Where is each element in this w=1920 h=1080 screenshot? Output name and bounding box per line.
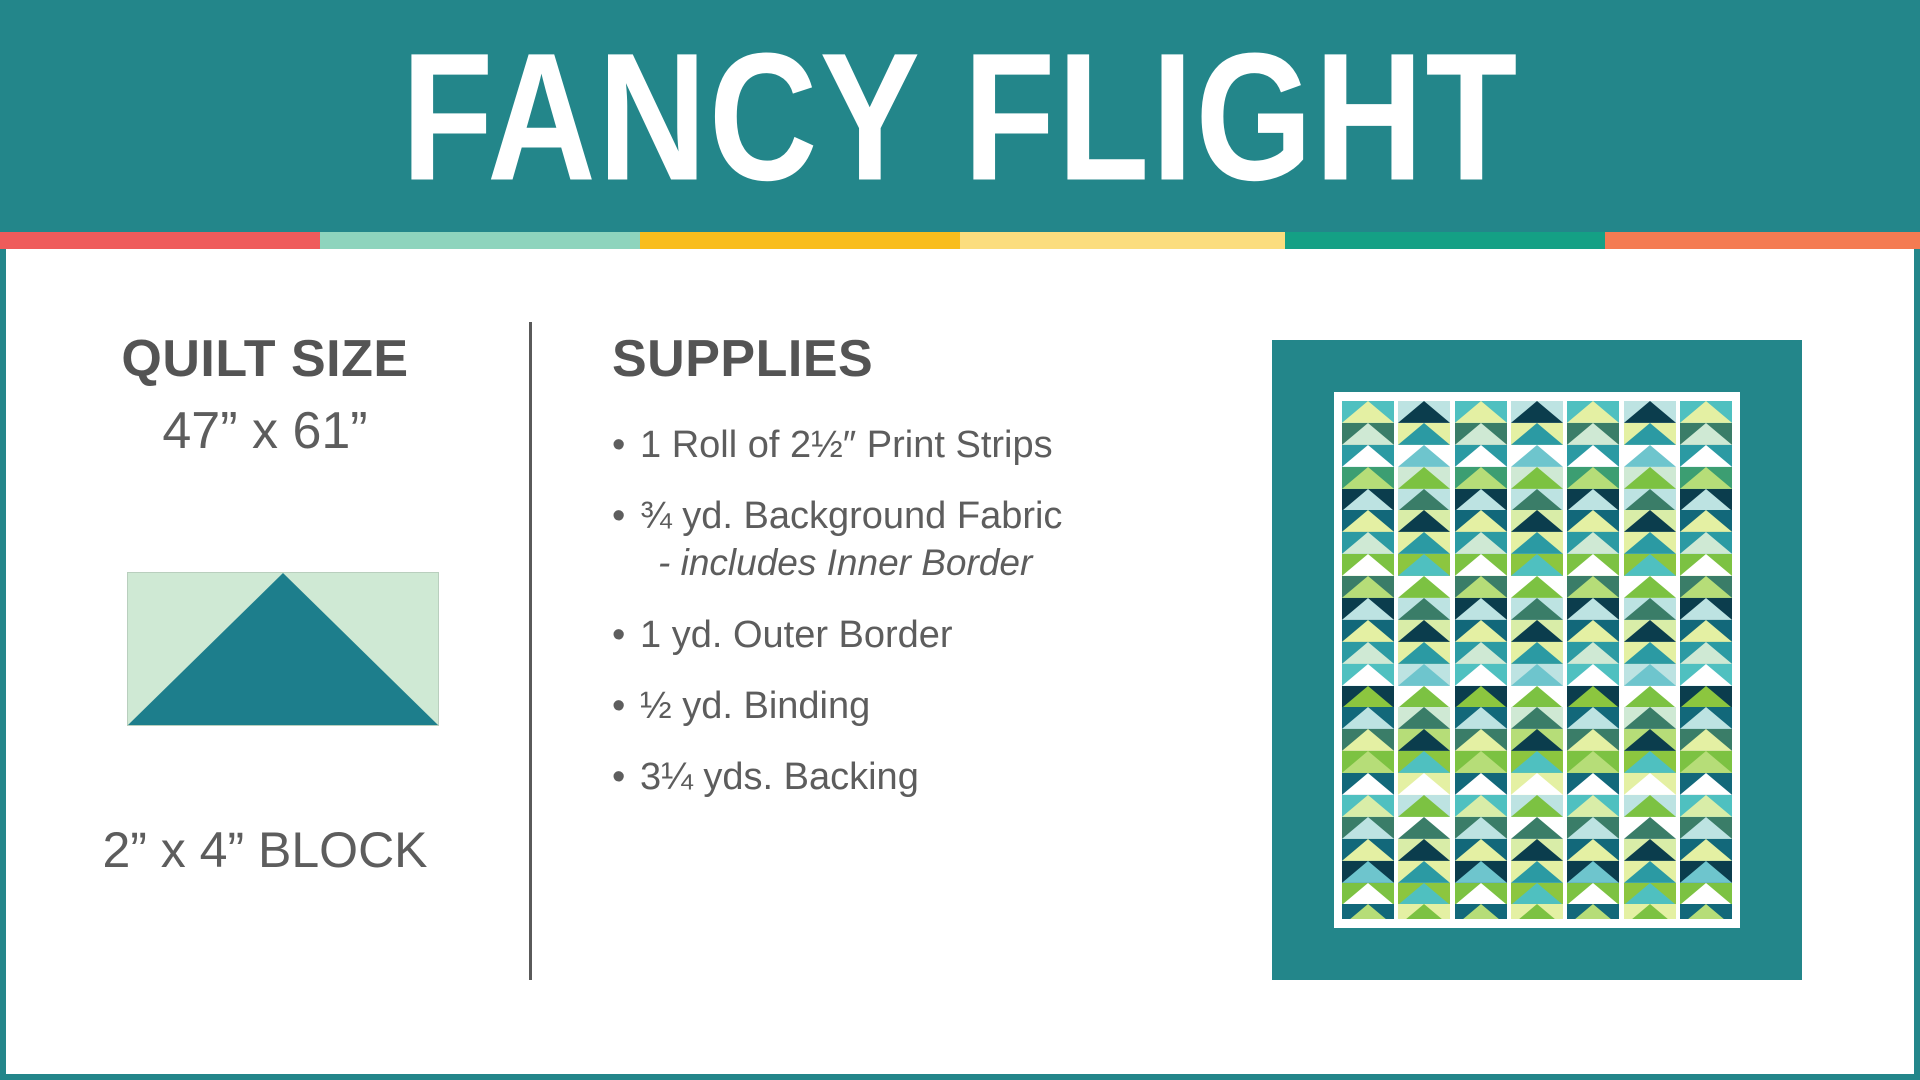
goose-block [1567, 401, 1619, 423]
goose-block [1567, 445, 1619, 467]
goose-block [1398, 489, 1450, 511]
goose-block [1567, 532, 1619, 554]
goose-block [1398, 817, 1450, 839]
goose-block [1342, 467, 1394, 489]
goose-block [1680, 904, 1732, 919]
goose-block [1511, 467, 1563, 489]
goose-block [1680, 620, 1732, 642]
goose-block [1624, 576, 1676, 598]
goose-block [1511, 773, 1563, 795]
goose-block [1680, 598, 1732, 620]
goose-block [1398, 445, 1450, 467]
section-divider [529, 322, 532, 980]
goose-block [1567, 861, 1619, 883]
goose-block [1567, 554, 1619, 576]
goose-block [1398, 532, 1450, 554]
goose-block [1342, 664, 1394, 686]
goose-block [1398, 795, 1450, 817]
goose-block [1455, 489, 1507, 511]
supplies-heading: SUPPLIES [612, 330, 1172, 388]
goose-block [1680, 751, 1732, 773]
goose-block [1680, 642, 1732, 664]
supplies-item: •3¼ yds. Backing [612, 754, 1172, 800]
goose-block [1342, 445, 1394, 467]
goose-block [1511, 686, 1563, 708]
goose-block [1511, 598, 1563, 620]
stripe-segment-golden-yellow [640, 232, 960, 249]
quilt-column-1 [1342, 401, 1394, 919]
bullet-icon: • [612, 754, 625, 800]
quilt-block-field [1342, 401, 1732, 919]
goose-block [1680, 423, 1732, 445]
quilt-illustration [1272, 340, 1802, 980]
goose-block [1624, 664, 1676, 686]
goose-block [1342, 686, 1394, 708]
quilt-column-5 [1567, 401, 1619, 919]
goose-block [1624, 467, 1676, 489]
goose-block [1511, 445, 1563, 467]
goose-block [1567, 773, 1619, 795]
goose-block [1680, 401, 1732, 423]
goose-block [1511, 904, 1563, 919]
goose-block [1680, 817, 1732, 839]
goose-block [1511, 839, 1563, 861]
goose-block [1455, 510, 1507, 532]
goose-block [1455, 773, 1507, 795]
goose-block [1567, 883, 1619, 905]
bullet-icon: • [612, 493, 625, 539]
stripe-segment-green-teal [1285, 232, 1605, 249]
supplies-item-text: 1 Roll of 2½″ Print Strips [640, 424, 1053, 466]
goose-block [1624, 839, 1676, 861]
goose-block [1624, 598, 1676, 620]
goose-block [1567, 598, 1619, 620]
goose-block [1455, 861, 1507, 883]
goose-block [1511, 489, 1563, 511]
goose-block [1624, 817, 1676, 839]
goose-block [1567, 904, 1619, 919]
goose-block [1342, 883, 1394, 905]
goose-block [1342, 773, 1394, 795]
goose-block [1567, 795, 1619, 817]
goose-block [1567, 489, 1619, 511]
goose-block [1680, 861, 1732, 883]
goose-block [1680, 532, 1732, 554]
goose-block [1624, 620, 1676, 642]
goose-block [1567, 751, 1619, 773]
goose-block [1624, 795, 1676, 817]
goose-block [1567, 642, 1619, 664]
supplies-item: •1 yd. Outer Border [612, 612, 1172, 658]
block-diagram [127, 572, 439, 726]
goose-block [1342, 729, 1394, 751]
goose-block [1511, 576, 1563, 598]
quilt-column-4 [1511, 401, 1563, 919]
goose-block [1455, 686, 1507, 708]
goose-block [1511, 817, 1563, 839]
goose-block [1624, 686, 1676, 708]
goose-block [1398, 751, 1450, 773]
goose-block [1398, 642, 1450, 664]
goose-block [1680, 467, 1732, 489]
goose-block [1342, 904, 1394, 919]
goose-block [1455, 707, 1507, 729]
goose-block [1511, 510, 1563, 532]
goose-block [1511, 795, 1563, 817]
goose-block [1398, 904, 1450, 919]
page-title: FANCY FLIGHT [401, 27, 1519, 209]
goose-block [1455, 467, 1507, 489]
goose-block [1511, 861, 1563, 883]
goose-block [1511, 729, 1563, 751]
goose-block [1511, 751, 1563, 773]
goose-block [1398, 576, 1450, 598]
goose-block [1398, 707, 1450, 729]
goose-block [1398, 401, 1450, 423]
goose-block [1398, 729, 1450, 751]
goose-block [1455, 642, 1507, 664]
goose-block [1398, 861, 1450, 883]
supplies-item-text: ½ yd. Binding [640, 685, 870, 727]
goose-block [1455, 532, 1507, 554]
goose-block [1567, 729, 1619, 751]
goose-block [1511, 401, 1563, 423]
goose-block [1455, 729, 1507, 751]
stripe-segment-coral-red [0, 232, 320, 249]
goose-block [1342, 510, 1394, 532]
goose-block [1624, 423, 1676, 445]
goose-block [1567, 686, 1619, 708]
goose-block [1567, 620, 1619, 642]
goose-block [1455, 751, 1507, 773]
goose-block [1680, 795, 1732, 817]
goose-block [1455, 883, 1507, 905]
goose-block [1511, 707, 1563, 729]
goose-block [1342, 751, 1394, 773]
quilt-size-heading: QUILT SIZE [30, 330, 500, 388]
supplies-item-text: ¾ yd. Background Fabric [640, 495, 1062, 537]
goose-block [1455, 576, 1507, 598]
goose-block [1455, 839, 1507, 861]
goose-block [1624, 773, 1676, 795]
quilt-column-6 [1624, 401, 1676, 919]
supplies-section: SUPPLIES •1 Roll of 2½″ Print Strips•¾ y… [612, 330, 1172, 825]
goose-block [1680, 510, 1732, 532]
goose-block [1342, 401, 1394, 423]
stripe-segment-orange [1605, 232, 1920, 249]
bullet-icon: • [612, 612, 625, 658]
color-stripe [0, 232, 1920, 249]
goose-block [1398, 510, 1450, 532]
goose-block [1455, 423, 1507, 445]
goose-block [1680, 729, 1732, 751]
goose-block [1567, 839, 1619, 861]
header-banner: FANCY FLIGHT [0, 0, 1920, 232]
supplies-item-text: 3¼ yds. Backing [640, 756, 919, 798]
goose-block [1398, 773, 1450, 795]
quilt-column-3 [1455, 401, 1507, 919]
goose-block [1398, 467, 1450, 489]
goose-block [1342, 489, 1394, 511]
goose-block [1398, 598, 1450, 620]
goose-block [1398, 686, 1450, 708]
goose-block [1342, 532, 1394, 554]
goose-block [1680, 445, 1732, 467]
goose-block [1624, 861, 1676, 883]
goose-block [1398, 620, 1450, 642]
supplies-item: •¾ yd. Background Fabric- includes Inner… [612, 493, 1172, 587]
goose-block [1342, 707, 1394, 729]
goose-block [1398, 554, 1450, 576]
stripe-segment-mint [320, 232, 640, 249]
goose-block [1511, 532, 1563, 554]
goose-block [1455, 620, 1507, 642]
goose-block [1342, 554, 1394, 576]
quilt-size-value: 47” x 61” [30, 396, 500, 466]
goose-block [1511, 423, 1563, 445]
quilt-column-7 [1680, 401, 1732, 919]
goose-block [1455, 795, 1507, 817]
goose-block [1342, 423, 1394, 445]
goose-block [1342, 817, 1394, 839]
goose-block [1624, 707, 1676, 729]
goose-block [1680, 489, 1732, 511]
goose-block [1398, 423, 1450, 445]
goose-block [1342, 576, 1394, 598]
goose-block [1567, 664, 1619, 686]
goose-block [1455, 904, 1507, 919]
bullet-icon: • [612, 683, 625, 729]
goose-block [1567, 423, 1619, 445]
supplies-item-text: 1 yd. Outer Border [640, 614, 953, 656]
stripe-segment-pale-yellow [960, 232, 1285, 249]
block-size-label: 2” x 4” BLOCK [30, 820, 500, 880]
goose-block [1342, 620, 1394, 642]
bullet-icon: • [612, 422, 625, 468]
goose-block [1342, 861, 1394, 883]
supplies-item: •½ yd. Binding [612, 683, 1172, 729]
goose-block [1567, 467, 1619, 489]
goose-block [1342, 642, 1394, 664]
goose-block [1567, 510, 1619, 532]
goose-block [1624, 445, 1676, 467]
goose-block [1398, 664, 1450, 686]
goose-block [1511, 620, 1563, 642]
goose-block [1624, 883, 1676, 905]
flying-geese-triangle-icon [128, 573, 438, 725]
goose-block [1455, 664, 1507, 686]
goose-block [1511, 642, 1563, 664]
goose-block [1455, 554, 1507, 576]
goose-block [1624, 554, 1676, 576]
goose-block [1567, 576, 1619, 598]
goose-block [1680, 576, 1732, 598]
goose-block [1624, 532, 1676, 554]
goose-block [1455, 401, 1507, 423]
goose-block [1342, 795, 1394, 817]
goose-block [1624, 510, 1676, 532]
goose-block [1680, 686, 1732, 708]
goose-block [1398, 839, 1450, 861]
quilt-inner-border [1334, 392, 1740, 928]
goose-block [1680, 773, 1732, 795]
goose-block [1624, 489, 1676, 511]
pattern-card: FANCY FLIGHT QUILT SIZE 47” x 61” 2” x 4… [0, 0, 1920, 1080]
goose-block [1624, 401, 1676, 423]
goose-block [1455, 445, 1507, 467]
goose-block [1680, 839, 1732, 861]
goose-block [1567, 707, 1619, 729]
goose-block [1624, 751, 1676, 773]
goose-block [1680, 554, 1732, 576]
goose-block [1398, 883, 1450, 905]
goose-block [1624, 904, 1676, 919]
goose-block [1455, 817, 1507, 839]
goose-block [1680, 707, 1732, 729]
goose-block [1680, 664, 1732, 686]
goose-block [1511, 664, 1563, 686]
supplies-item-subtext: - includes Inner Border [640, 539, 1172, 587]
goose-block [1455, 598, 1507, 620]
goose-block [1680, 883, 1732, 905]
supplies-item: •1 Roll of 2½″ Print Strips [612, 422, 1172, 468]
goose-block [1511, 883, 1563, 905]
goose-block [1624, 729, 1676, 751]
supplies-list: •1 Roll of 2½″ Print Strips•¾ yd. Backgr… [612, 422, 1172, 800]
goose-block [1567, 817, 1619, 839]
goose-block [1342, 839, 1394, 861]
quilt-size-section: QUILT SIZE 47” x 61” [30, 330, 500, 466]
goose-block [1624, 642, 1676, 664]
goose-block [1511, 554, 1563, 576]
quilt-column-2 [1398, 401, 1450, 919]
goose-block [1342, 598, 1394, 620]
